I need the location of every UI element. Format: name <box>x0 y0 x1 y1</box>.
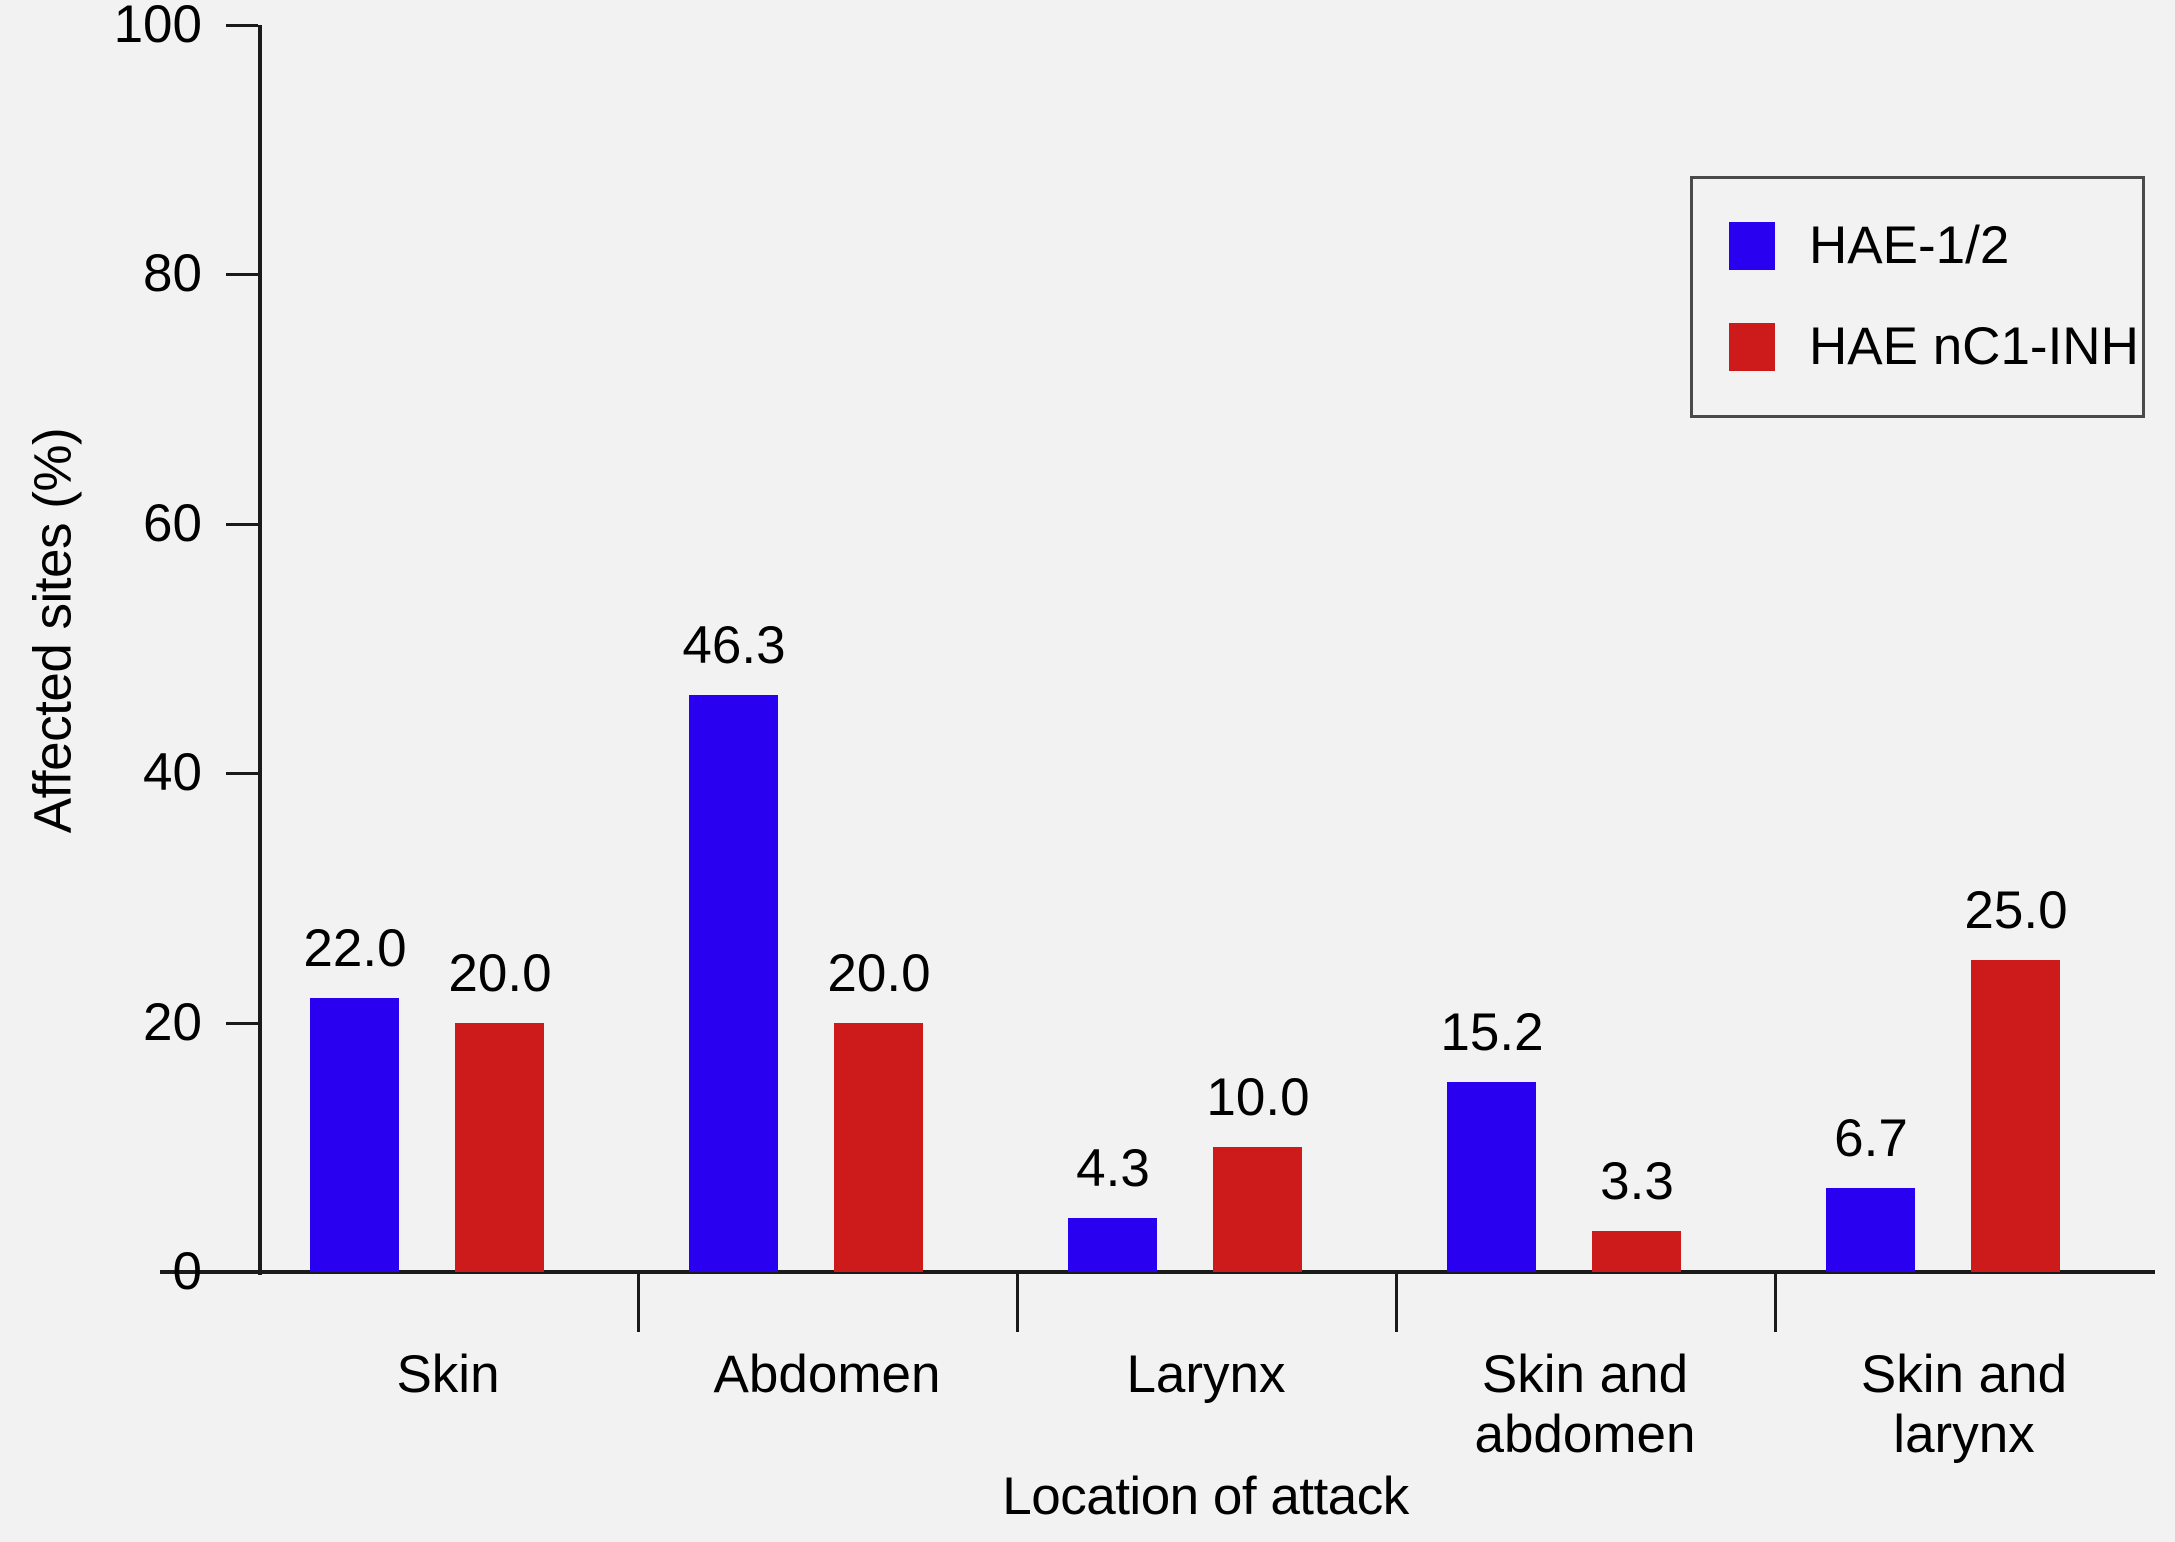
y-tick-mark <box>226 523 258 526</box>
x-category-label: Skin and abdomen <box>1385 1345 1785 1465</box>
bar <box>1068 1218 1157 1272</box>
bar-value-label: 4.3 <box>1023 1142 1203 1195</box>
bar <box>1213 1147 1302 1272</box>
bar <box>1826 1188 1915 1272</box>
y-tick-mark <box>226 273 258 276</box>
legend[interactable]: HAE-1/2 HAE nC1-INH <box>1690 176 2145 418</box>
bar <box>1447 1082 1536 1272</box>
y-tick-mark <box>226 1271 258 1274</box>
x-category-label: Skin <box>248 1345 648 1405</box>
legend-label: HAE nC1-INH <box>1809 320 2139 373</box>
y-tick-label: 100 <box>62 0 202 51</box>
x-category-label: Larynx <box>1006 1345 1406 1405</box>
y-tick-mark <box>226 24 258 27</box>
x-category-label: Skin and larynx <box>1764 1345 2164 1465</box>
y-tick-label: 60 <box>62 497 202 550</box>
y-tick-mark <box>226 1022 258 1025</box>
bar-value-label: 20.0 <box>410 947 590 1000</box>
bar <box>1971 960 2060 1272</box>
legend-swatch-icon-red <box>1729 323 1775 371</box>
bar-chart-figure: Affected sites (%) Location of attack 02… <box>0 0 2175 1542</box>
x-tick-mark <box>1774 1274 1777 1332</box>
bar-value-label: 46.3 <box>644 619 824 672</box>
legend-label: HAE-1/2 <box>1809 219 2009 272</box>
x-axis-title: Location of attack <box>258 1466 2153 1527</box>
y-tick-label: 20 <box>62 996 202 1049</box>
bar-value-label: 15.2 <box>1402 1006 1582 1059</box>
x-category-label: Abdomen <box>627 1345 1027 1405</box>
bar-value-label: 20.0 <box>789 947 969 1000</box>
bar-value-label: 3.3 <box>1547 1155 1727 1208</box>
y-tick-label: 80 <box>62 247 202 300</box>
y-tick-label: 40 <box>62 746 202 799</box>
bar <box>1592 1231 1681 1272</box>
legend-swatch-icon-blue <box>1729 222 1775 270</box>
bar <box>689 695 778 1272</box>
y-tick-label: 0 <box>62 1245 202 1298</box>
y-axis-title: Affected sites (%) <box>23 301 84 961</box>
bar <box>834 1023 923 1272</box>
bar-value-label: 10.0 <box>1168 1071 1348 1124</box>
legend-entry-hae-1-2[interactable]: HAE-1/2 <box>1729 219 2009 272</box>
legend-entry-hae-nc1-inh[interactable]: HAE nC1-INH <box>1729 320 2139 373</box>
bar-value-label: 6.7 <box>1781 1112 1961 1165</box>
x-tick-mark <box>1016 1274 1019 1332</box>
x-tick-mark <box>1395 1274 1398 1332</box>
y-tick-mark <box>226 772 258 775</box>
bar <box>455 1023 544 1272</box>
bar-value-label: 25.0 <box>1926 884 2106 937</box>
bar <box>310 998 399 1272</box>
x-tick-mark <box>637 1274 640 1332</box>
